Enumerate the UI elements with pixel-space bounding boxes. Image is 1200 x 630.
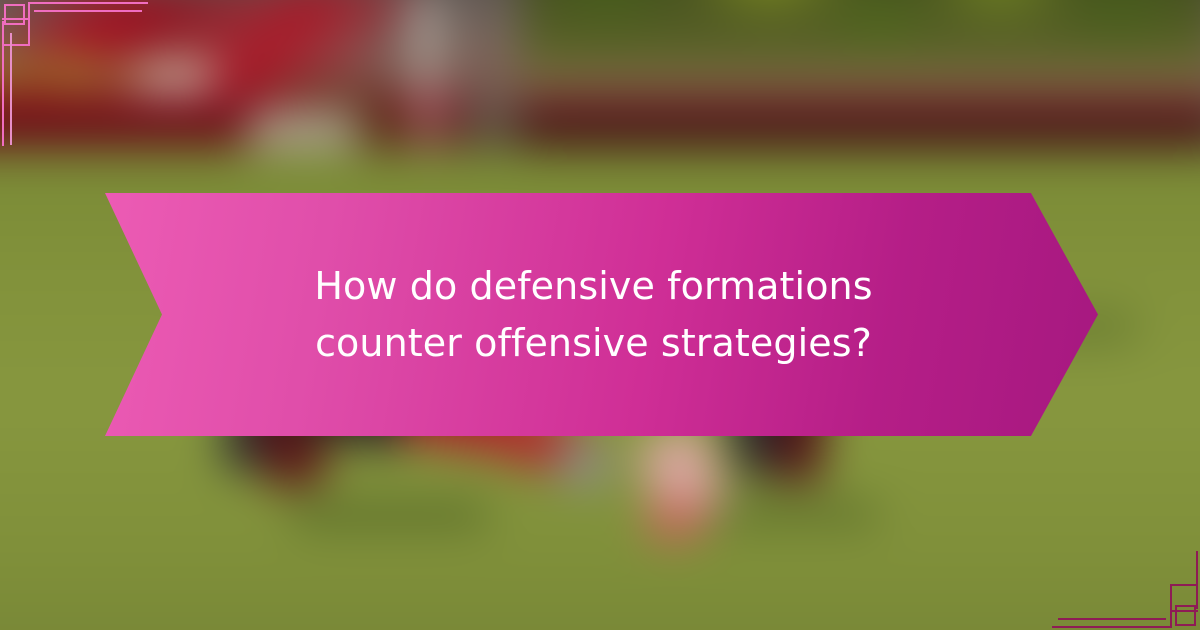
stadium-barrier-right [520, 70, 1200, 160]
corner-bracket-top-left [0, 0, 200, 170]
corner-square-icon [1175, 605, 1196, 626]
player-shadow-left [290, 500, 490, 528]
white-post [418, 0, 434, 155]
corner-bracket-bottom-right [1000, 530, 1200, 630]
corner-line-vertical-inner [10, 33, 12, 145]
corner-line-bottom-outer [1052, 626, 1172, 628]
corner-line-top-inner [34, 10, 142, 12]
corner-line-top-outer [28, 2, 148, 4]
corner-line-vertical-tall [28, 2, 30, 46]
corner-line-bottom-inner [1058, 618, 1166, 620]
corner-line-vertical-tall [1170, 584, 1172, 628]
screenshot-canvas: How do defensive formations counter offe… [0, 0, 1200, 630]
headline-banner: How do defensive formations counter offe… [105, 193, 1098, 436]
corner-line-vertical-outer [2, 21, 4, 146]
corner-line-vertical-outer [1196, 551, 1198, 609]
corner-line-horizontal-mid [1170, 584, 1198, 586]
corner-line-horizontal-mid [2, 44, 30, 46]
corner-square-icon [4, 4, 25, 25]
player-shadow-right [700, 500, 880, 526]
corner-line-horizontal-short [2, 18, 30, 20]
corner-line-horizontal-short [1170, 610, 1198, 612]
headline-text: How do defensive formations counter offe… [244, 258, 944, 372]
